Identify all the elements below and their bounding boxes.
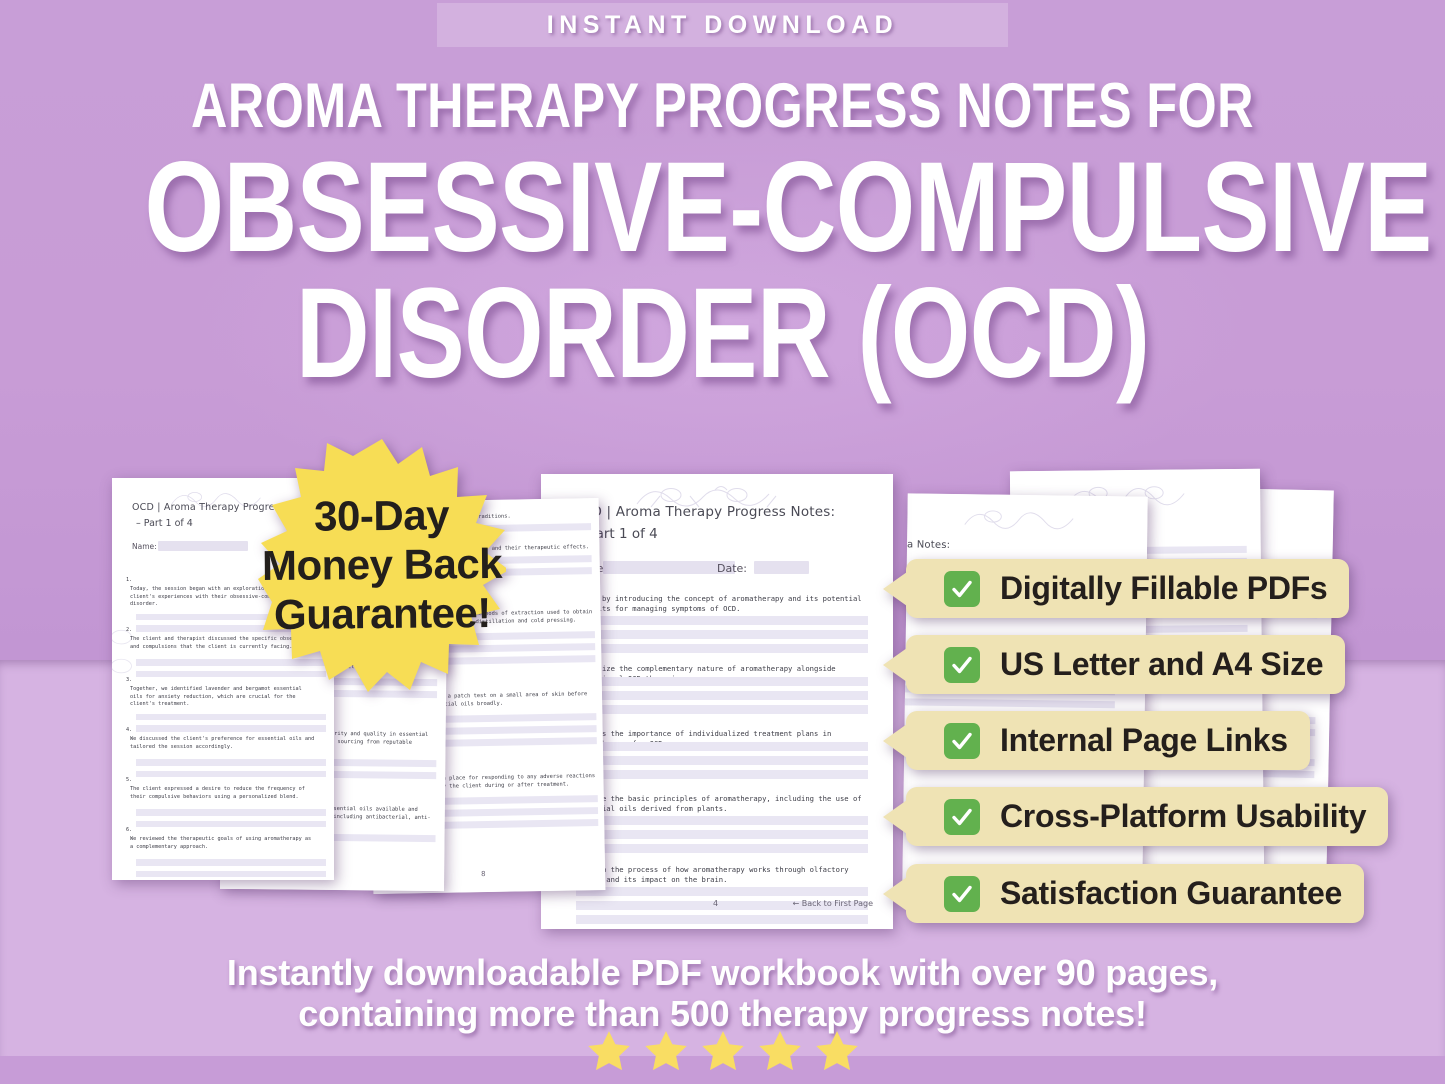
feature-label: Satisfaction Guarantee <box>1000 875 1342 912</box>
check-icon <box>944 647 980 683</box>
feature-callout-satisfaction-guarantee: Satisfaction Guarantee <box>906 864 1364 923</box>
star-rating <box>0 1028 1445 1074</box>
guarantee-line-1: 30-Day <box>314 494 449 537</box>
doc-page-number: 4 <box>713 899 718 908</box>
feature-label: Internal Page Links <box>1000 722 1288 759</box>
doc-item-text: We reviewed the therapeutic goals of usi… <box>130 836 316 851</box>
doc-item-number: 2. <box>126 627 132 633</box>
instant-download-label: INSTANT DOWNLOAD <box>547 11 898 40</box>
doc-name-field[interactable] <box>603 561 735 574</box>
star-icon <box>699 1028 747 1074</box>
doc-item-number: 4. <box>126 727 132 733</box>
check-icon <box>944 799 980 835</box>
footer-line-1: Instantly downloadable PDF workbook with… <box>0 952 1445 993</box>
money-back-guarantee-text: 30-Day Money Back Guarantee! <box>257 436 507 693</box>
guarantee-line-3: Guarantee! <box>274 592 491 636</box>
doc-item-text: The client expressed a desire to reduce … <box>130 786 316 801</box>
feature-callout-internal-page-links: Internal Page Links <box>906 711 1310 770</box>
feature-callout-digitally-fillable-pdfs: Digitally Fillable PDFs <box>906 559 1349 618</box>
product-listing-image: INSTANT DOWNLOAD AROMA THERAPY PROGRESS … <box>0 0 1445 1084</box>
title-line-2: DISORDER (OCD) <box>145 268 1301 400</box>
star-icon <box>585 1028 633 1074</box>
check-icon <box>944 723 980 759</box>
doc-item-number: 1. <box>126 577 132 583</box>
doc-back-to-first-page-link[interactable]: ← Back to First Page <box>792 899 873 908</box>
doc-title: OCD | Aroma Therapy Progress Notes: <box>571 504 835 520</box>
doc-title-fragment: a Notes: <box>907 539 950 551</box>
feature-label: Digitally Fillable PDFs <box>1000 570 1327 607</box>
feature-label: Cross-Platform Usability <box>1000 798 1366 835</box>
doc-subtitle: – Part 1 of 4 <box>136 518 193 529</box>
star-icon <box>642 1028 690 1074</box>
doc-date-label: Date: <box>717 562 747 575</box>
feature-callout-us-letter-and-a4-size: US Letter and A4 Size <box>906 635 1345 694</box>
doc-name-field[interactable] <box>158 541 248 551</box>
doc-item-text: We discussed the client's preference for… <box>130 736 316 751</box>
doc-item-number: 5. <box>126 777 132 783</box>
doc-item-number: 3. <box>126 677 132 683</box>
doc-date-field[interactable] <box>754 561 809 574</box>
check-icon <box>944 571 980 607</box>
title-line-1: OBSESSIVE-COMPULSIVE <box>145 142 1301 274</box>
title-block: AROMA THERAPY PROGRESS NOTES FOR OBSESSI… <box>0 70 1445 400</box>
star-icon <box>813 1028 861 1074</box>
guarantee-line-2: Money Back <box>262 542 502 586</box>
check-icon <box>944 876 980 912</box>
doc-page-number: 8 <box>481 870 486 878</box>
floral-watermark-icon <box>957 500 1098 539</box>
instant-download-banner: INSTANT DOWNLOAD <box>437 3 1008 47</box>
doc-item-number: 6. <box>126 827 132 833</box>
footer-tagline: Instantly downloadable PDF workbook with… <box>0 952 1445 1034</box>
doc-name-label: Name: <box>132 542 157 551</box>
feature-callout-cross-platform-usability: Cross-Platform Usability <box>906 787 1388 846</box>
title-eyebrow: AROMA THERAPY PROGRESS NOTES FOR <box>145 70 1301 142</box>
feature-label: US Letter and A4 Size <box>1000 646 1323 683</box>
star-icon <box>756 1028 804 1074</box>
